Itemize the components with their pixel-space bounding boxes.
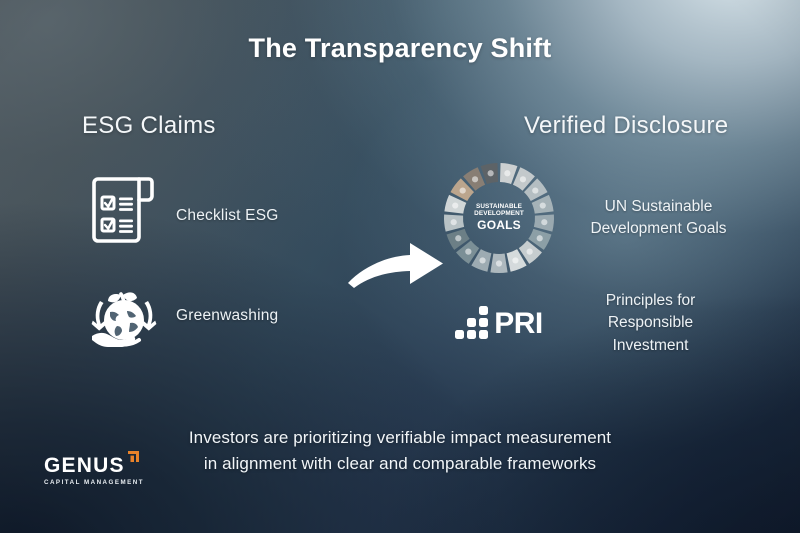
- label-line-2: Development Goals: [571, 218, 746, 240]
- pri-logo-icon: PRI: [443, 306, 555, 342]
- list-item-label: Principles for Responsible Investment: [563, 290, 738, 357]
- curved-right-arrow-icon: [344, 236, 448, 294]
- list-item-pri: PRI Principles for Responsible Investmen…: [443, 290, 738, 357]
- list-item-greenwashing: Greenwashing: [72, 268, 278, 364]
- column-heading-verified-disclosure: Verified Disclosure: [524, 112, 728, 140]
- list-item-label: UN Sustainable Development Goals: [571, 196, 746, 241]
- list-item-label: Checklist ESG: [176, 207, 279, 225]
- pri-dot-grid: [455, 306, 489, 342]
- sdg-wheel-icon: SUSTAINABLE DEVELOPMENT GOALS: [443, 162, 555, 274]
- list-item-label: Greenwashing: [176, 307, 278, 325]
- footer-line-1: Investors are prioritizing verifiable im…: [0, 425, 800, 451]
- column-heading-esg-claims: ESG Claims: [82, 112, 216, 140]
- label-line-1: UN Sustainable: [571, 196, 746, 218]
- slide-canvas: The Transparency Shift ESG Claims Verifi…: [0, 0, 800, 533]
- hand-globe-leaf-icon: [72, 268, 176, 364]
- slide-title: The Transparency Shift: [0, 33, 800, 64]
- brand-tagline: CAPITAL MANAGEMENT: [44, 479, 144, 486]
- pri-wordmark: PRI: [494, 309, 543, 339]
- brand-name: GENUS: [44, 455, 125, 476]
- label-line-2: Responsible: [563, 312, 738, 334]
- label-line-3: Investment: [563, 335, 738, 357]
- brand-logo: GENUS CAPITAL MANAGEMENT: [44, 455, 144, 486]
- list-item-un-sdg: SUSTAINABLE DEVELOPMENT GOALS UN Sustain…: [443, 162, 746, 274]
- label-line-1: Principles for: [563, 290, 738, 312]
- checklist-document-icon: [72, 168, 176, 264]
- nested-square-bars-mark: [127, 450, 140, 468]
- list-item-checklist-esg: Checklist ESG: [72, 168, 279, 264]
